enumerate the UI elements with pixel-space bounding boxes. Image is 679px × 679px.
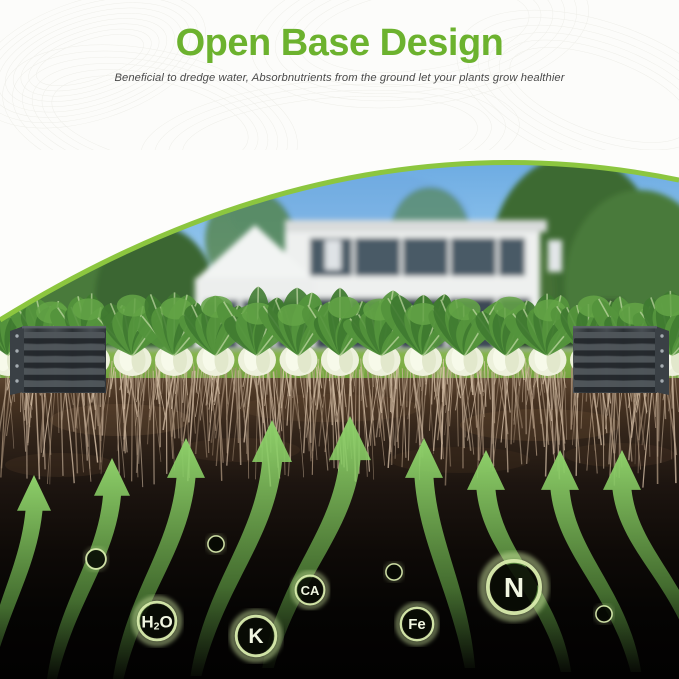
empty-nutrient-bubble-2 xyxy=(207,535,225,553)
nutrient-bubble-k: K xyxy=(233,613,280,660)
nutrient-bubble-n: N xyxy=(483,556,544,617)
nutrient-bubble-label: K xyxy=(248,625,263,648)
nutrient-bubble-fe: Fe xyxy=(398,605,436,643)
nutrient-bubble-h2o: H2O xyxy=(135,599,180,644)
page-subtitle: Beneficial to dredge water, Absorbnutrie… xyxy=(0,72,679,84)
empty-nutrient-bubble-4 xyxy=(595,605,613,623)
nutrient-bubble-label: CA xyxy=(301,583,320,598)
infographic-root: Open Base Design Beneficial to dredge wa… xyxy=(0,0,679,679)
empty-nutrient-bubble-3 xyxy=(385,563,403,581)
nutrient-bubble-label: N xyxy=(504,572,524,603)
raised-garden-bed-panel-right xyxy=(573,323,669,395)
product-scene-photo: H2OKCAFeN xyxy=(0,120,679,679)
nutrient-bubble-label: Fe xyxy=(408,616,426,633)
raised-garden-bed-panel-left xyxy=(10,323,106,395)
page-title: Open Base Design xyxy=(0,22,679,65)
scene-illustration: H2OKCAFeN xyxy=(0,120,679,679)
nutrient-bubble-ca: CA xyxy=(293,573,327,607)
empty-nutrient-bubble-1 xyxy=(85,548,107,570)
